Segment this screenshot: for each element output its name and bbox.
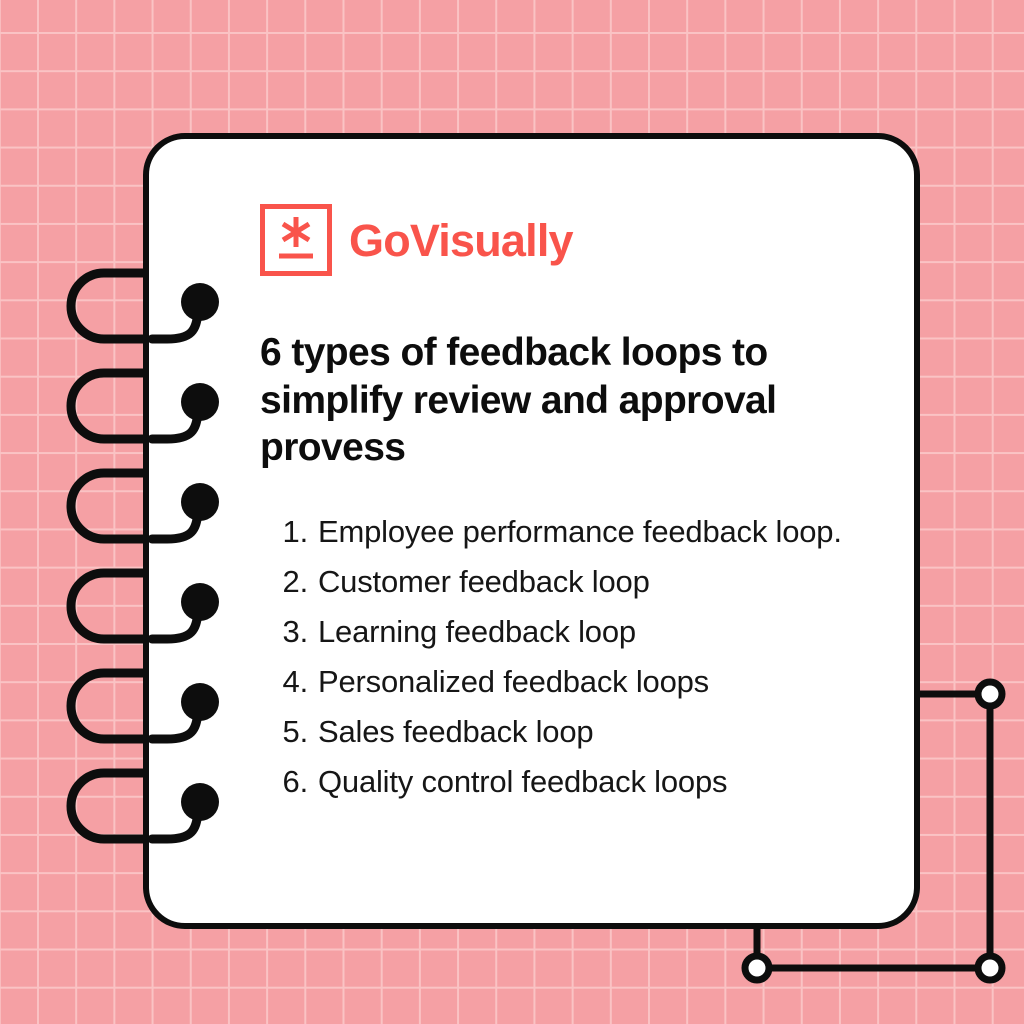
list-item-number: 2. (260, 566, 308, 597)
brand-lockup: GoVisually (260, 201, 874, 279)
list-item-label: Personalized feedback loops (318, 666, 709, 697)
note-card: GoVisually 6 types of feedback loops to … (143, 133, 920, 929)
list-item: 6. Quality control feedback loops (260, 766, 874, 816)
connector-node-bottom-left (745, 956, 769, 980)
list-item-number: 6. (260, 766, 308, 797)
list-item-number: 3. (260, 616, 308, 647)
list-item-label: Customer feedback loop (318, 566, 650, 597)
list-item-number: 4. (260, 666, 308, 697)
brand-name: GoVisually (349, 218, 573, 263)
list-item: 3. Learning feedback loop (260, 616, 874, 666)
list-item: 1. Employee performance feedback loop. (260, 516, 874, 566)
list-item-label: Employee performance feedback loop. (318, 516, 842, 547)
page-title: 6 types of feedback loops to simplify re… (260, 329, 850, 472)
list-item-number: 5. (260, 716, 308, 747)
card-content: GoVisually 6 types of feedback loops to … (260, 201, 874, 832)
asterisk-document-icon (260, 204, 332, 276)
list-item: 2. Customer feedback loop (260, 566, 874, 616)
connector-node-top-right (978, 682, 1002, 706)
list-item-label: Sales feedback loop (318, 716, 593, 747)
poster-canvas: GoVisually 6 types of feedback loops to … (0, 0, 1024, 1024)
list-item-label: Quality control feedback loops (318, 766, 727, 797)
list-item: 4. Personalized feedback loops (260, 666, 874, 716)
feedback-loop-list: 1. Employee performance feedback loop. 2… (260, 516, 874, 816)
list-item-number: 1. (260, 516, 308, 547)
connector-node-bottom-right (978, 956, 1002, 980)
list-item: 5. Sales feedback loop (260, 716, 874, 766)
list-item-label: Learning feedback loop (318, 616, 636, 647)
